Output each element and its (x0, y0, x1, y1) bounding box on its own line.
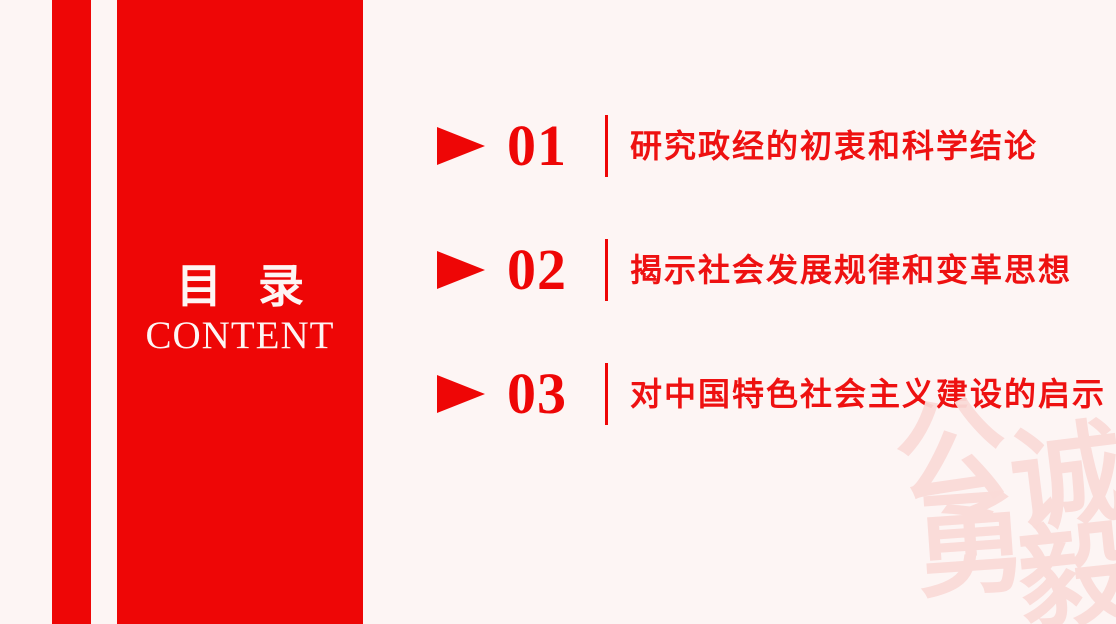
slide-canvas: 目 录 CONTENT 01 研究政经的初衷和科学结论 02 揭示社会发展规律和… (0, 0, 1116, 624)
play-triangle-icon (437, 127, 485, 165)
item-divider (605, 363, 608, 425)
page-title-cn: 目 录 (117, 262, 363, 310)
content-title-panel: 目 录 CONTENT (117, 0, 363, 624)
panel-title-block: 目 录 CONTENT (117, 262, 363, 355)
item-divider (605, 115, 608, 177)
play-triangle-icon (437, 375, 485, 413)
item-label: 研究政经的初衷和科学结论 (630, 130, 1097, 162)
item-number: 03 (507, 365, 605, 423)
item-label: 对中国特色社会主义建设的启示 (630, 378, 1106, 410)
decorative-bar-thin (52, 0, 91, 624)
watermark-char: 毅 (1013, 516, 1116, 624)
contents-list: 01 研究政经的初衷和科学结论 02 揭示社会发展规律和变革思想 03 对中国特… (437, 84, 1097, 456)
contents-item-02[interactable]: 02 揭示社会发展规律和变革思想 (437, 208, 1097, 332)
item-label: 揭示社会发展规律和变革思想 (630, 254, 1097, 286)
page-title-en: CONTENT (117, 316, 363, 355)
contents-item-01[interactable]: 01 研究政经的初衷和科学结论 (437, 84, 1097, 208)
item-number: 01 (507, 117, 605, 175)
play-triangle-icon (437, 251, 485, 289)
contents-item-03[interactable]: 03 对中国特色社会主义建设的启示 (437, 332, 1097, 456)
item-divider (605, 239, 608, 301)
item-number: 02 (507, 241, 605, 299)
watermark-char: 勇 (911, 486, 1031, 606)
